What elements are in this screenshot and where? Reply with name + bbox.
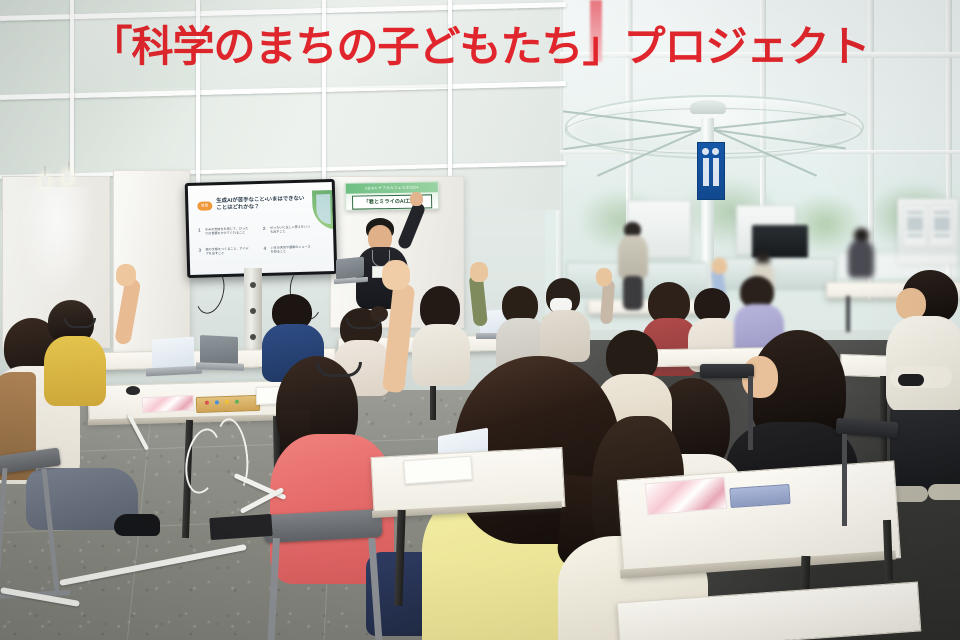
person-pants xyxy=(890,410,960,492)
exhibit-poster xyxy=(930,204,954,246)
background-table-leg xyxy=(846,296,850,332)
person-torso xyxy=(886,316,960,412)
slide-badge-label: 質問 xyxy=(197,201,212,210)
slide-item-number: 3 xyxy=(199,248,202,253)
canopy-column-cap xyxy=(690,100,726,114)
worksheet-paper xyxy=(403,456,473,485)
event-banner-top: SEIKA サブカルフェスタ2024 xyxy=(346,182,438,194)
child-hand xyxy=(116,264,136,286)
child-hand xyxy=(382,260,410,290)
child-headset xyxy=(346,318,382,329)
exhibit-poster xyxy=(903,204,927,246)
partition-highlight xyxy=(13,187,99,307)
child-headset xyxy=(64,318,96,328)
hand xyxy=(712,258,727,274)
slide-item-number: 1 xyxy=(198,228,201,233)
chair-leg xyxy=(748,376,753,450)
slide-badge: 質問 xyxy=(197,201,212,210)
column-blue-banner xyxy=(697,142,725,200)
slide-item-text: 絵や文章をつくること、アイデアを出すこと xyxy=(206,246,252,256)
presentation-tv: 質問 生成AIが苦手なこと・いまはできないことはどれかな？ 1 きみの気持ちを感… xyxy=(185,179,338,278)
laptop-screen xyxy=(152,337,194,370)
slide-item-text: ぜったいに正しい答えをいつも出すこと xyxy=(270,225,312,235)
hand xyxy=(470,262,488,282)
chair-back xyxy=(700,364,754,378)
person-torso xyxy=(412,324,470,386)
person-shoe xyxy=(928,484,960,500)
slide-item-text: いまの天気や最新のニュースを知ること xyxy=(270,245,312,255)
flyer-leaflet xyxy=(142,395,195,414)
slide-item-text: きみの気持ちを感じて、ぴったりの言葉をかけてくれること xyxy=(205,226,251,236)
person-shoe xyxy=(114,514,160,536)
chair-leg xyxy=(842,434,847,526)
tablet-notebook xyxy=(729,484,790,508)
hand xyxy=(596,268,612,286)
slide-item-number: 4 xyxy=(263,246,266,251)
presentation-slide: 質問 生成AIが苦手なこと・いまはできないことはどれかな？ 1 きみの気持ちを感… xyxy=(188,182,334,275)
spotlight xyxy=(41,176,48,187)
event-banner-subtitle: SEIKA サブカルフェスタ2024 xyxy=(346,182,438,194)
person-torso xyxy=(540,310,590,362)
computer-mouse xyxy=(126,386,140,395)
page-title: 「科学のまちの子どもたち」プロジェクト xyxy=(0,20,960,74)
laptop-screen xyxy=(200,335,238,365)
slide-heading: 生成AIが苦手なこと・いまはできないことはどれかな？ xyxy=(216,196,306,213)
photo-stage: 質問 生成AIが苦手なこと・いまはできないことはどれかな？ 1 きみの気持ちを感… xyxy=(0,0,960,640)
presenter-hand xyxy=(410,192,423,206)
child-torso xyxy=(44,336,106,406)
event-banner: SEIKA サブカルフェスタ2024 「君とミライのAI工房」 xyxy=(345,181,439,211)
spotlight xyxy=(64,172,71,183)
exhibit-counter xyxy=(716,258,836,290)
power-strip xyxy=(209,514,272,540)
person-hair xyxy=(694,288,730,322)
wooden-tray xyxy=(196,395,261,413)
person-cuff xyxy=(898,374,924,386)
slide-item-number: 2 xyxy=(263,226,266,231)
laptop-screen xyxy=(336,257,364,280)
